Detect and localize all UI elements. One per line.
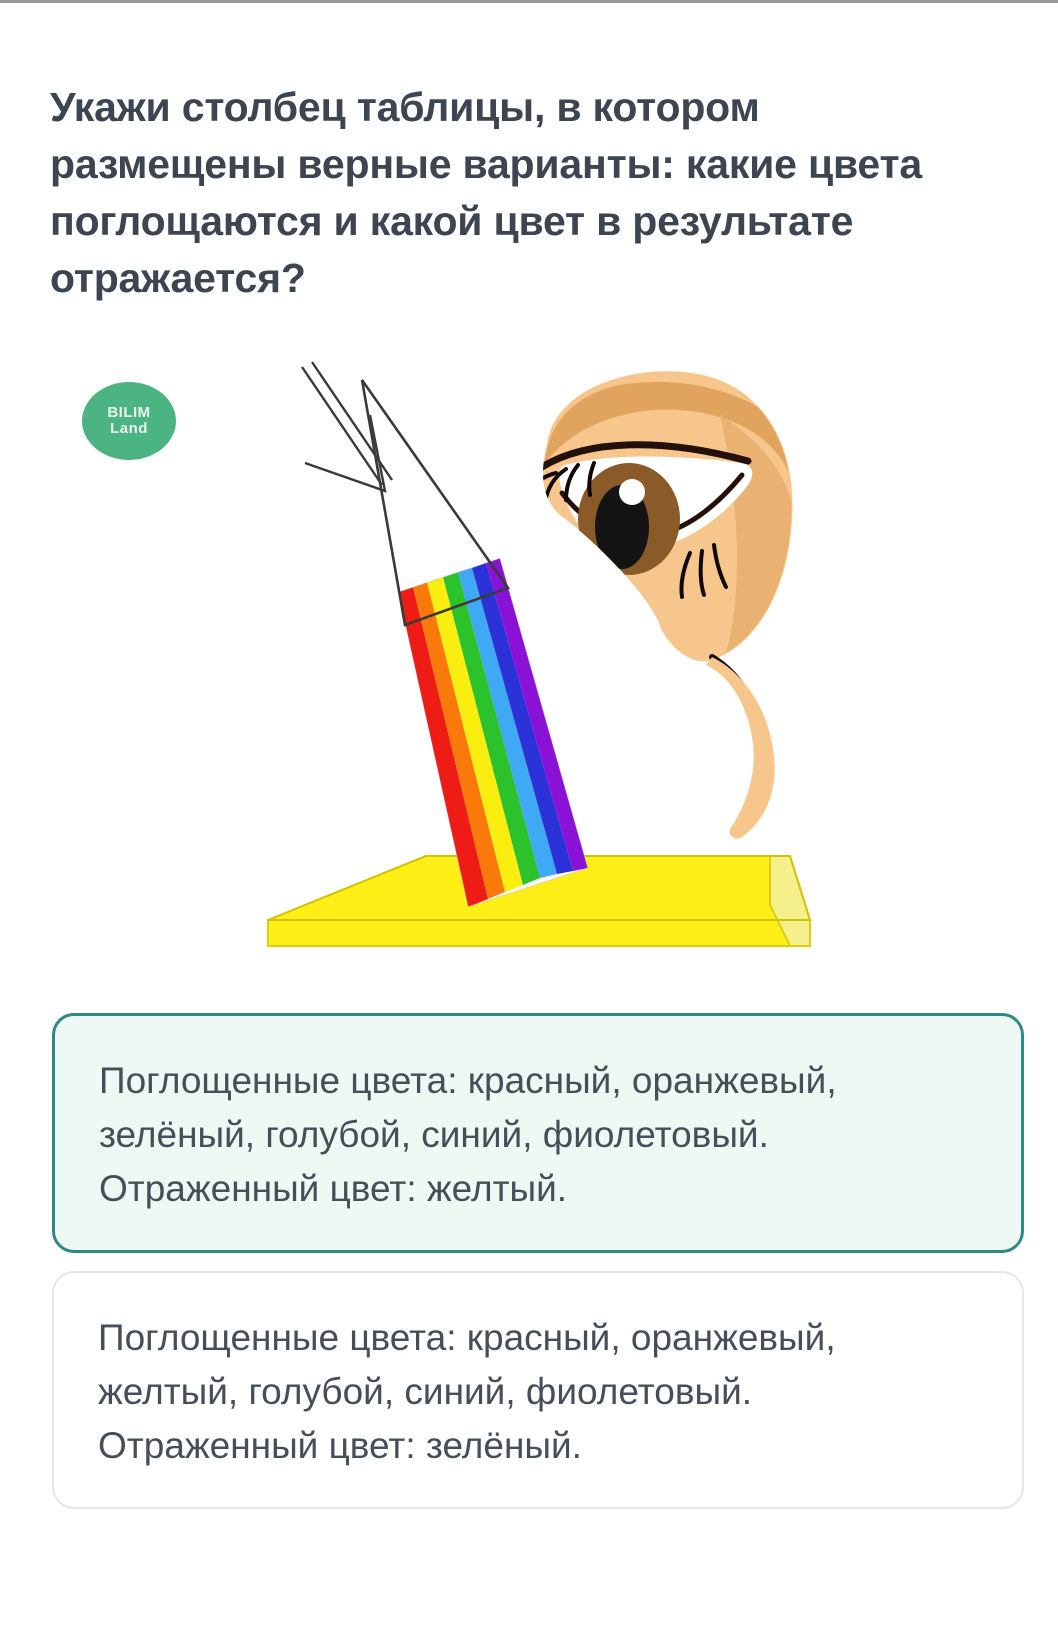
glass-prism: [362, 380, 508, 625]
answer-options-list: Поглощенные цвета: красный, оранжевый, з…: [52, 1013, 1024, 1527]
answer-option-1[interactable]: Поглощенные цвета: красный, оранжевый, з…: [52, 1013, 1024, 1253]
page-title: Укажи столбец таблицы, в котором размеще…: [50, 79, 1000, 307]
prism-spectrum-illustration: [0, 345, 1058, 960]
observer-eye: [526, 372, 795, 839]
top-divider: [0, 0, 1058, 3]
answer-option-2[interactable]: Поглощенные цвета: красный, оранжевый, ж…: [52, 1271, 1024, 1509]
